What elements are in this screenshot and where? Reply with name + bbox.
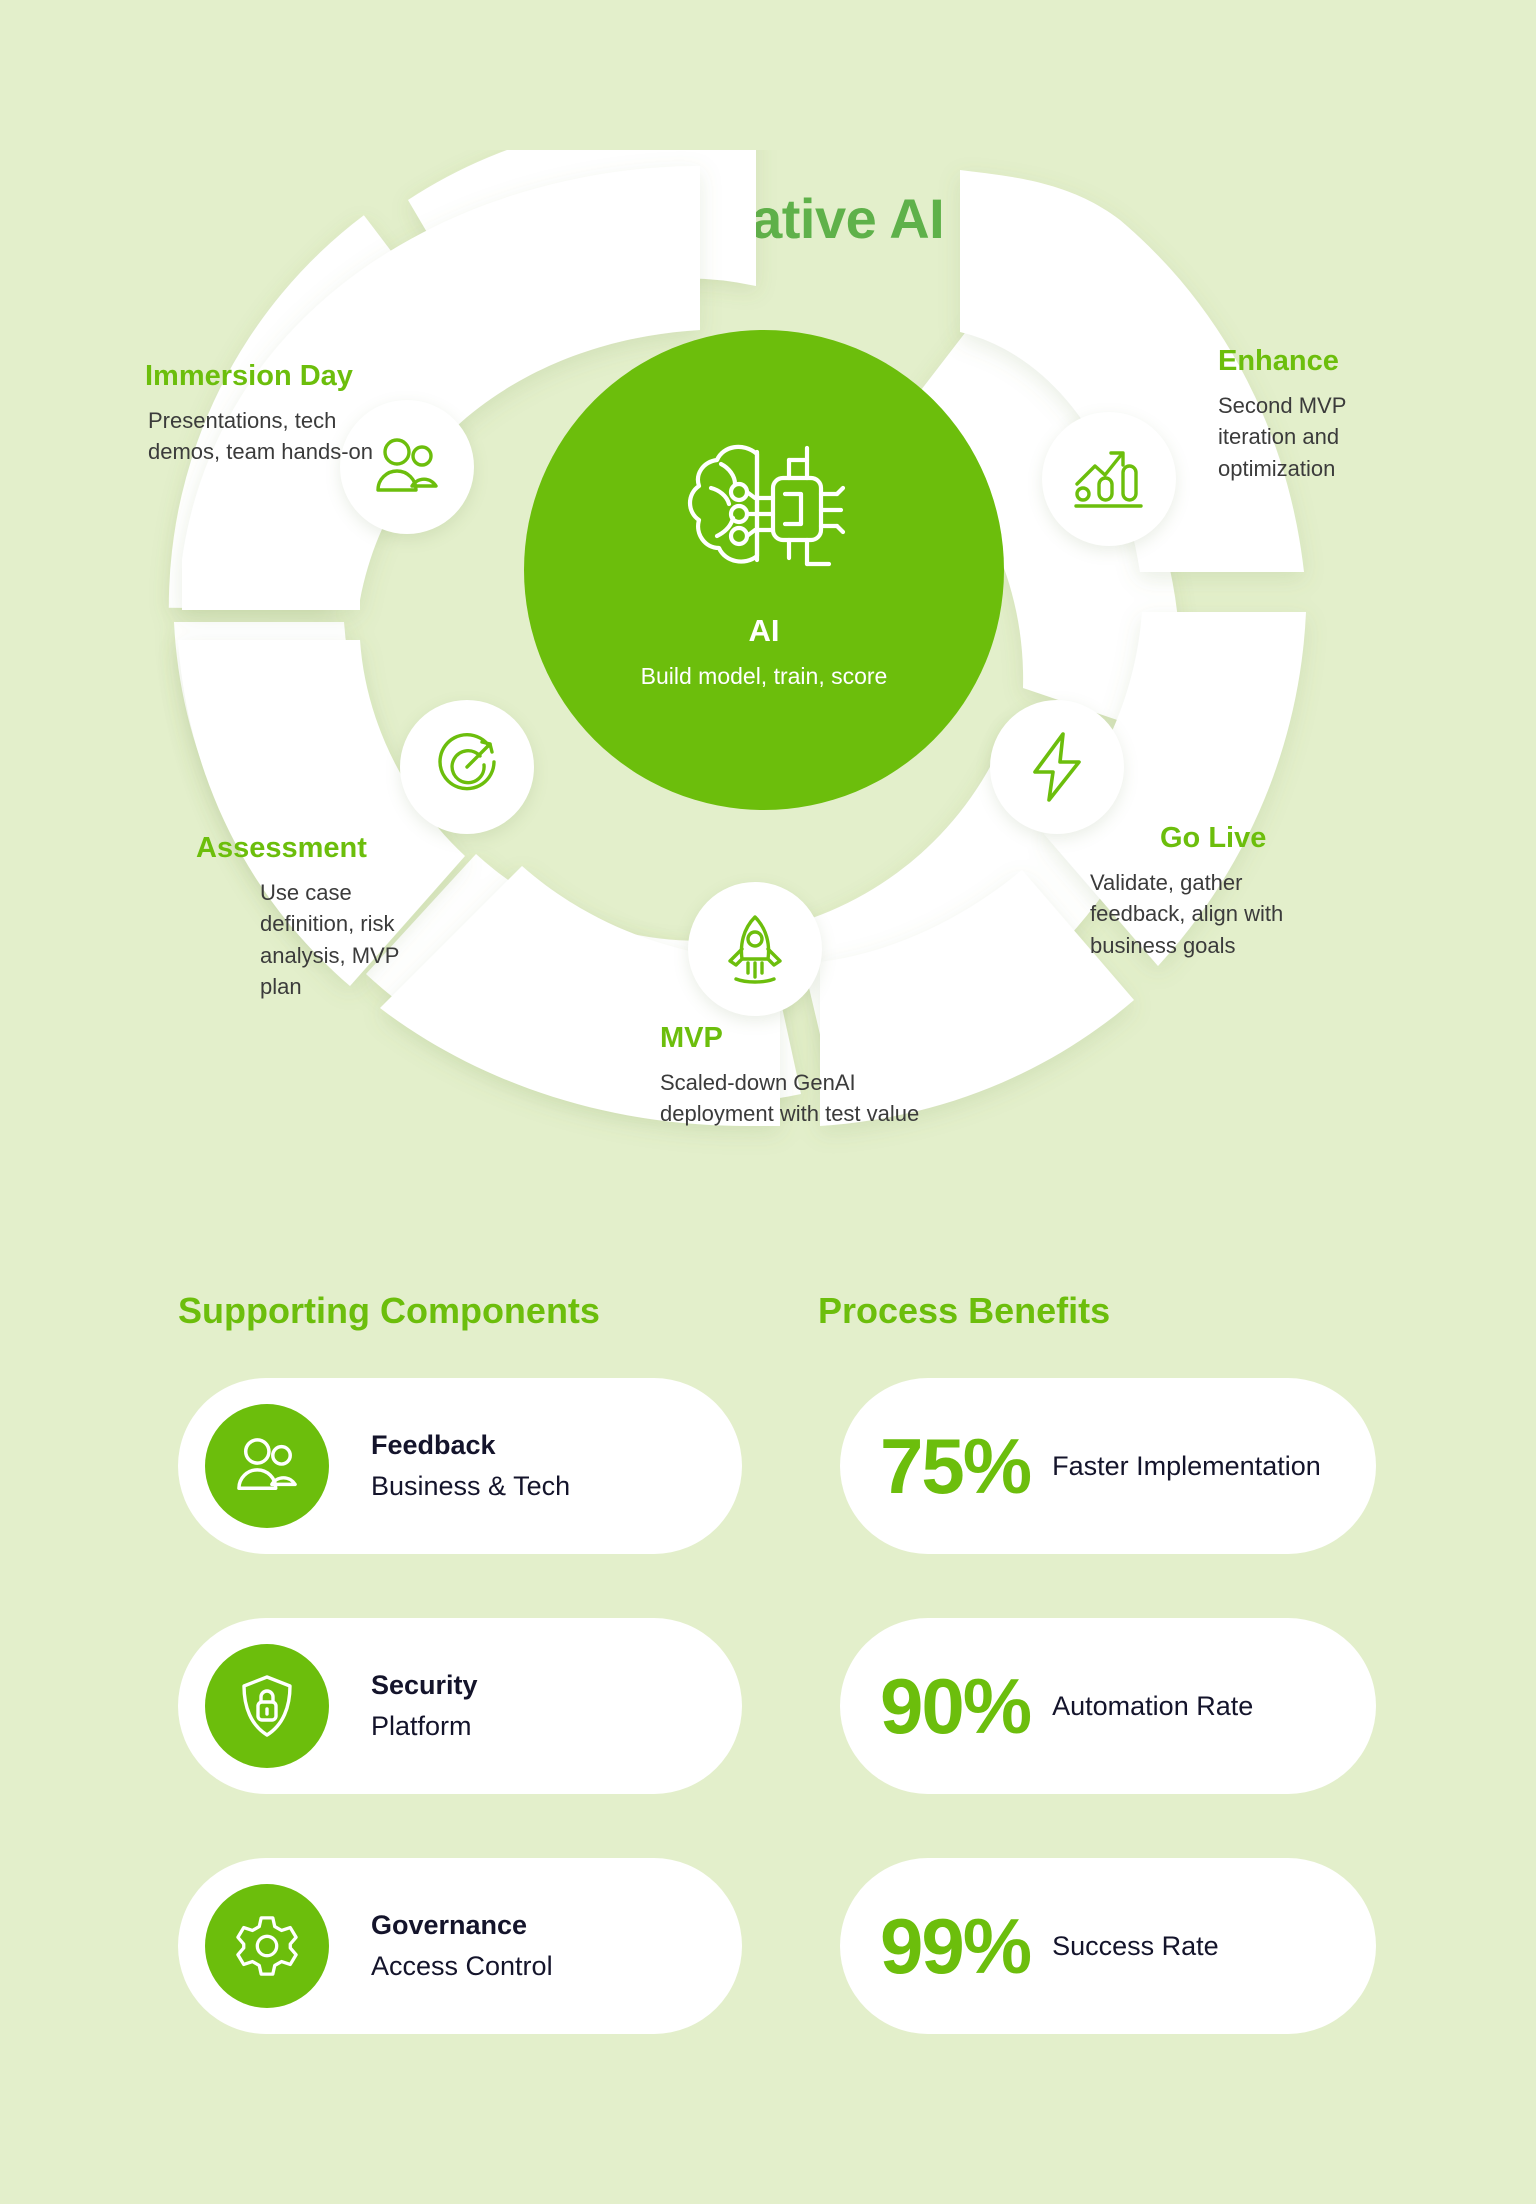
- supporting-components-heading: Supporting Components: [178, 1290, 600, 1332]
- center-ai-circle: AI Build model, train, score: [524, 330, 1004, 810]
- card-title: Feedback: [371, 1430, 570, 1461]
- card-subtitle: Business & Tech: [371, 1471, 570, 1502]
- benefit-value: 99%: [880, 1907, 1030, 1985]
- shield-lock-icon: [205, 1644, 329, 1768]
- benefit-card-automation-rate[interactable]: 90% Automation Rate: [840, 1618, 1376, 1794]
- benefit-label: Faster Implementation: [1052, 1449, 1321, 1484]
- benefit-card-faster-implementation[interactable]: 75% Faster Implementation: [840, 1378, 1376, 1554]
- card-title: Security: [371, 1670, 478, 1701]
- supporting-card-security[interactable]: Security Platform: [178, 1618, 742, 1794]
- stage-body: Validate, gather feedback, align with bu…: [1090, 867, 1320, 961]
- stage-heading: MVP: [660, 1022, 940, 1055]
- benefit-label: Success Rate: [1052, 1929, 1219, 1964]
- stage-heading: Go Live: [1160, 822, 1320, 855]
- stage-heading: Assessment: [196, 832, 446, 865]
- stage-assessment: Assessment Use case definition, risk ana…: [196, 832, 446, 1003]
- people-icon: [205, 1404, 329, 1528]
- supporting-card-feedback[interactable]: Feedback Business & Tech: [178, 1378, 742, 1554]
- stage-mvp: MVP Scaled-down GenAI deployment with te…: [660, 1022, 940, 1130]
- stage-heading: Enhance: [1218, 345, 1428, 378]
- center-subtitle: Build model, train, score: [641, 663, 888, 690]
- stage-body: Second MVP iteration and optimization: [1218, 390, 1428, 484]
- benefit-card-success-rate[interactable]: 99% Success Rate: [840, 1858, 1376, 2034]
- stage-immersion: Immersion Day Presentations, tech demos,…: [148, 360, 378, 468]
- brain-circuit-icon: [681, 432, 847, 587]
- stage-golive: Go Live Validate, gather feedback, align…: [1090, 822, 1320, 961]
- stage-body: Use case definition, risk analysis, MVP …: [260, 877, 446, 1003]
- stage-body: Presentations, tech demos, team hands-on: [148, 405, 378, 468]
- stage-icon-assessment[interactable]: [400, 700, 534, 834]
- stage-heading: Immersion Day: [145, 360, 378, 393]
- card-title: Governance: [371, 1910, 553, 1941]
- center-title: AI: [749, 613, 780, 649]
- supporting-card-governance[interactable]: Governance Access Control: [178, 1858, 742, 2034]
- stage-enhance: Enhance Second MVP iteration and optimiz…: [1218, 345, 1428, 484]
- card-subtitle: Platform: [371, 1711, 478, 1742]
- stage-icon-golive[interactable]: [990, 700, 1124, 834]
- benefit-value: 90%: [880, 1667, 1030, 1745]
- gear-icon: [205, 1884, 329, 2008]
- stage-icon-enhance[interactable]: [1042, 412, 1176, 546]
- stage-body: Scaled-down GenAI deployment with test v…: [660, 1067, 940, 1130]
- benefit-label: Automation Rate: [1052, 1689, 1253, 1724]
- stage-icon-mvp[interactable]: [688, 882, 822, 1016]
- benefit-value: 75%: [880, 1427, 1030, 1505]
- process-benefits-heading: Process Benefits: [818, 1290, 1110, 1332]
- card-subtitle: Access Control: [371, 1951, 553, 1982]
